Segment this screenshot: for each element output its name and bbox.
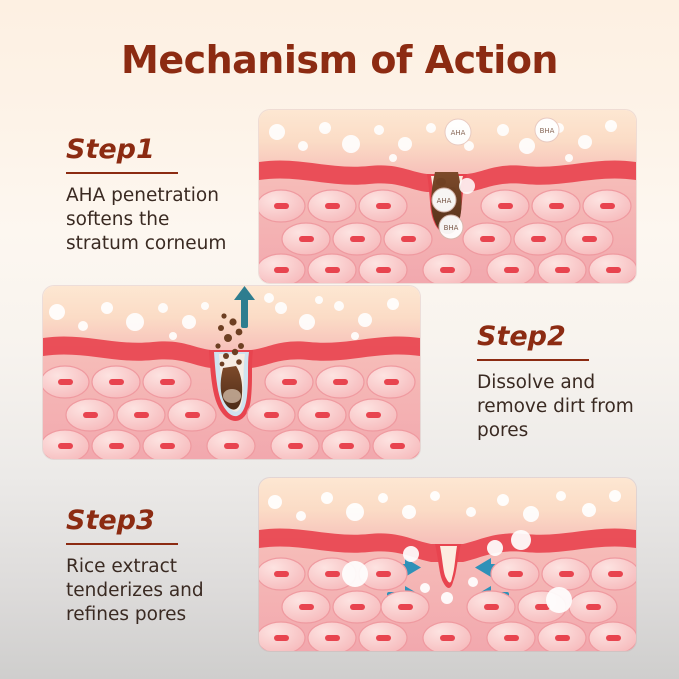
step3-text-block: Step3 Rice extract tenderizes and refine… xyxy=(66,507,246,627)
marker-aha-surface-label: AHA xyxy=(451,129,466,137)
step3-divider xyxy=(66,543,178,545)
step3-illustration xyxy=(259,478,636,651)
panel-step3 xyxy=(259,478,636,651)
step2-text-block: Step2 Dissolve and remove dirt from pore… xyxy=(477,323,657,443)
marker-bha-surface: BHA xyxy=(535,118,559,142)
step1-text-block: Step1 AHA penetration softens the stratu… xyxy=(66,136,248,256)
step2-illustration xyxy=(43,286,420,459)
marker-bha-pore-label: BHA xyxy=(444,224,459,232)
step1-illustration: AHA BHA AHA BHA xyxy=(259,110,636,283)
step3-label: Step3 xyxy=(66,507,246,534)
marker-aha-surface: AHA xyxy=(445,119,471,145)
page-title: Mechanism of Action xyxy=(0,38,679,82)
marker-aha-pore: AHA xyxy=(432,188,456,212)
marker-bha-surface-label: BHA xyxy=(540,127,555,135)
step1-description: AHA penetration softens the stratum corn… xyxy=(66,184,248,256)
step1-divider xyxy=(66,172,178,174)
step1-label: Step1 xyxy=(66,136,248,163)
step3-description: Rice extract tenderizes and refines pore… xyxy=(66,555,246,627)
marker-bha-pore: BHA xyxy=(439,215,463,239)
step2-label: Step2 xyxy=(477,323,657,350)
panel-step2 xyxy=(43,286,420,459)
step2-description: Dissolve and remove dirt from pores xyxy=(477,371,657,443)
marker-aha-pore-label: AHA xyxy=(437,197,452,205)
step2-divider xyxy=(477,359,589,361)
panel-step1: AHA BHA AHA BHA xyxy=(259,110,636,283)
